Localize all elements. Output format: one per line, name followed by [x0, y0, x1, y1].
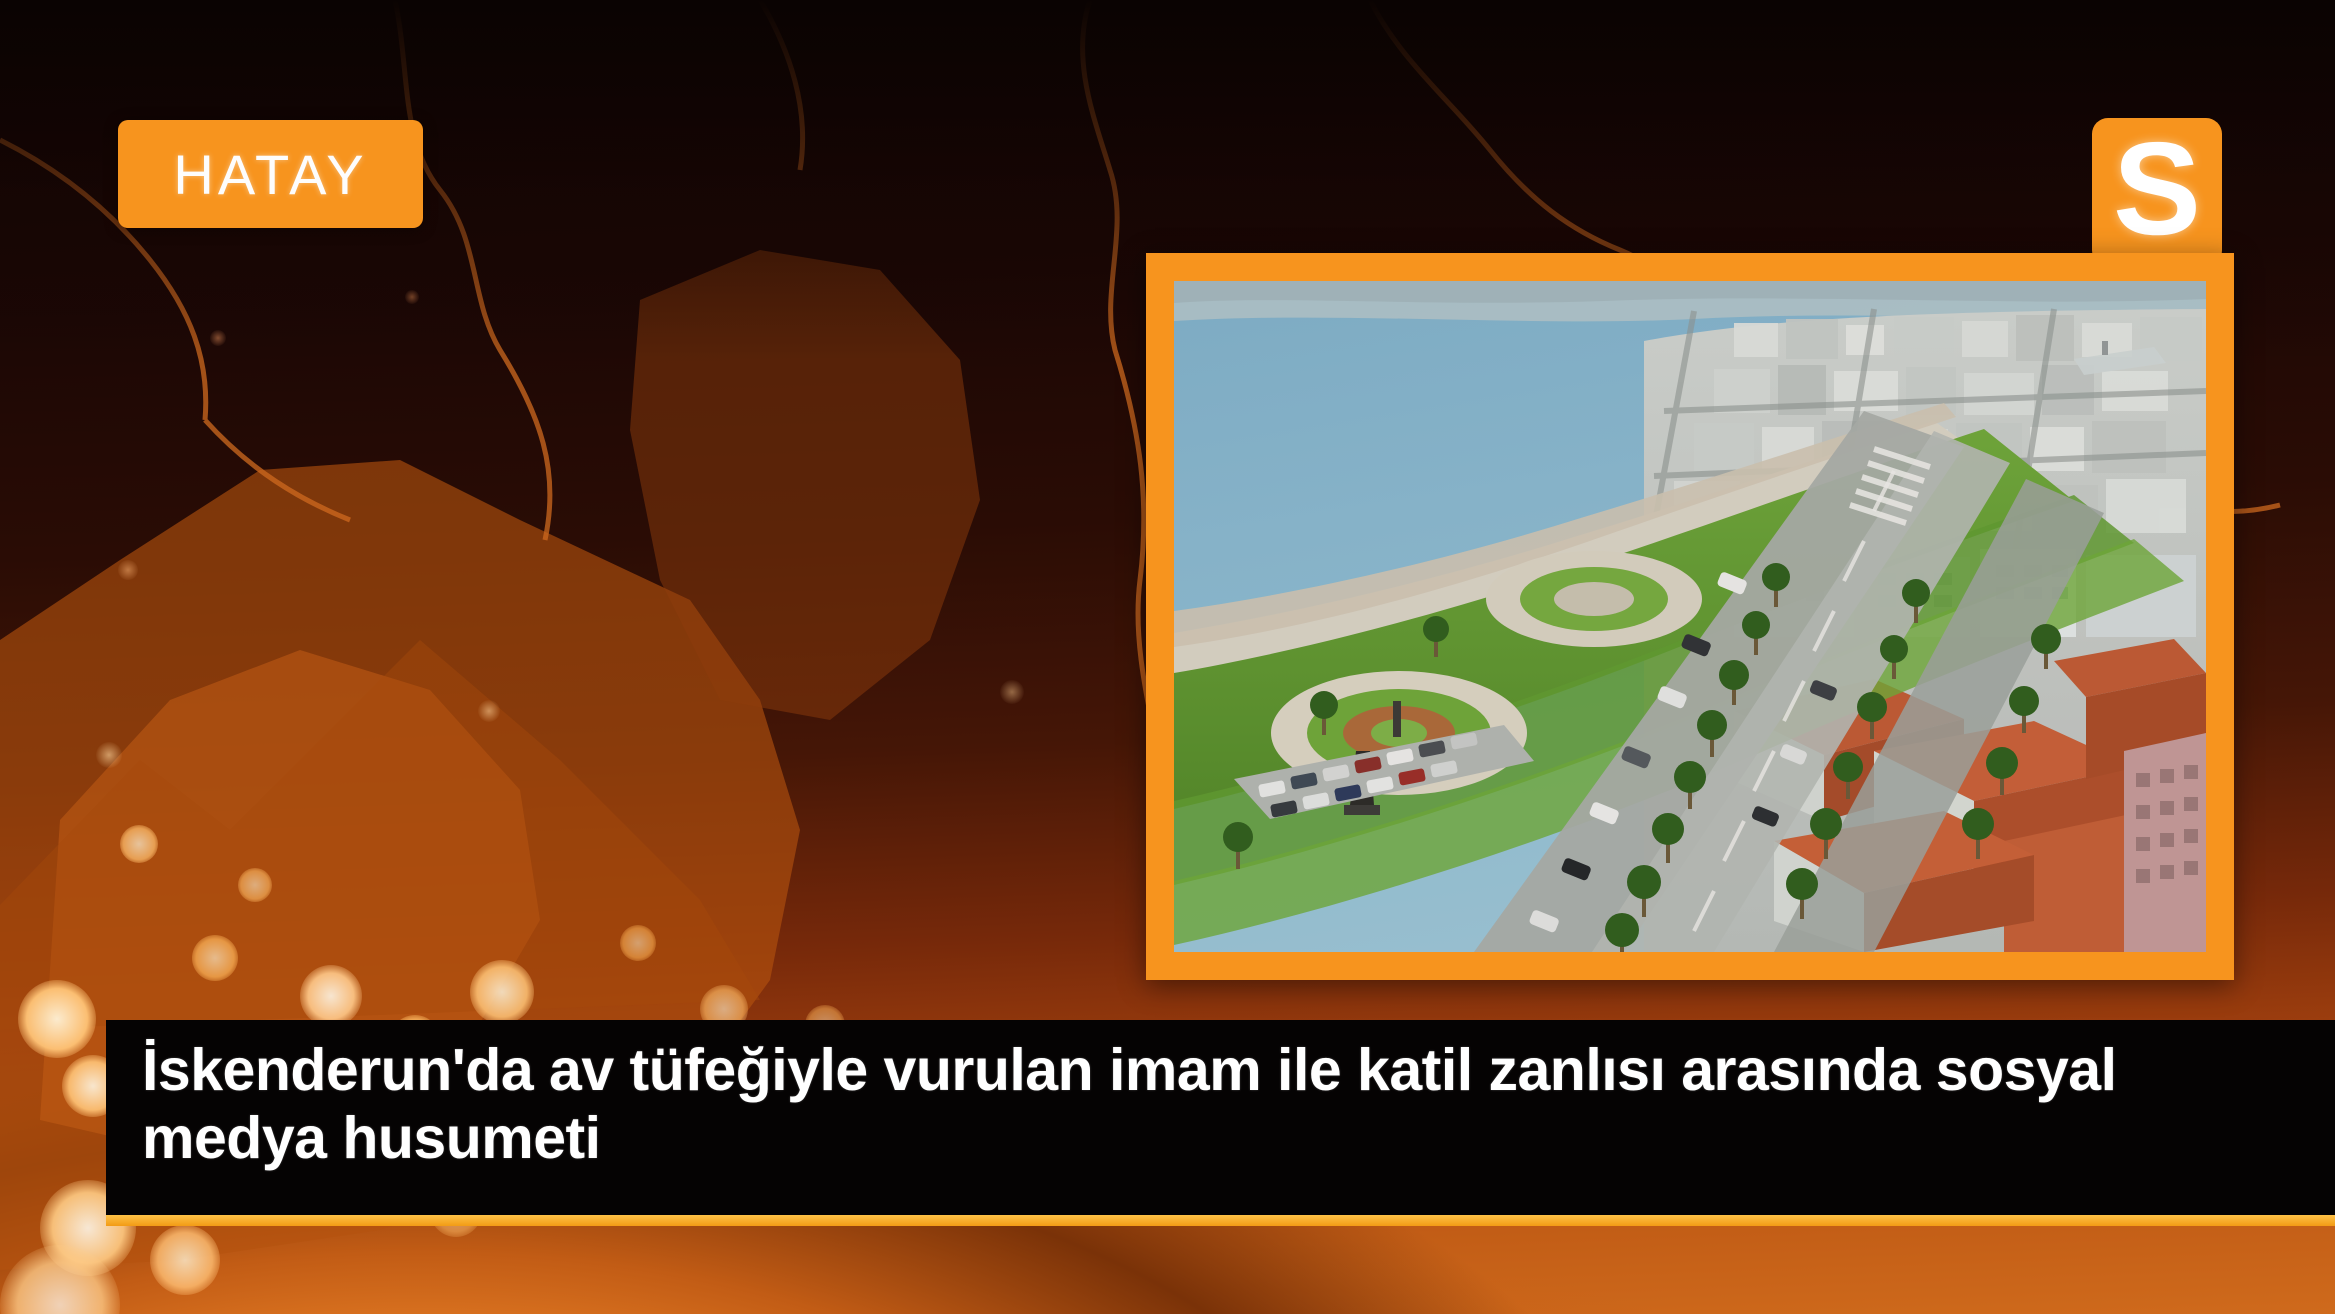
headline-text: İskenderun'da av tüfeğiyle vurulan imam … [142, 1036, 2222, 1173]
gold-accent-rule [106, 1215, 2335, 1226]
photo-frame [1146, 253, 2234, 980]
brand-logo[interactable]: S [2092, 118, 2222, 266]
news-photo [1174, 281, 2206, 952]
brand-logo-letter: S [2113, 135, 2201, 243]
province-badge[interactable]: HATAY [118, 120, 423, 228]
province-badge-label: HATAY [173, 142, 367, 207]
headline-bar: İskenderun'da av tüfeğiyle vurulan imam … [106, 1020, 2335, 1226]
news-card: HATAY S [0, 0, 2335, 1314]
